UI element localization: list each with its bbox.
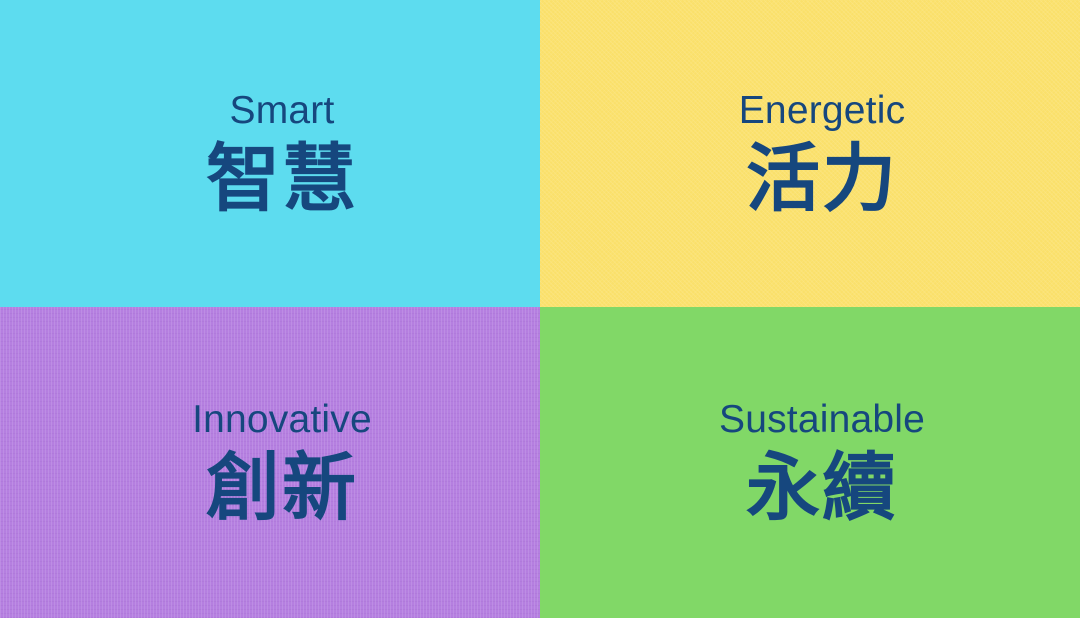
value-label-block-sustainable: Sustainable 永續: [719, 400, 925, 525]
value-label-block-smart: Smart 智慧: [206, 91, 358, 216]
value-label-cjk-innovative: 創新: [206, 451, 358, 525]
value-panel-sustainable: Sustainable 永續: [540, 307, 1080, 618]
value-label-en-sustainable: Sustainable: [719, 400, 925, 439]
value-label-en-innovative: Innovative: [192, 400, 372, 439]
value-label-cjk-energetic: 活力: [746, 142, 898, 216]
value-panel-smart: Smart 智慧: [0, 0, 540, 307]
value-label-en-energetic: Energetic: [739, 91, 906, 130]
value-label-block-energetic: Energetic 活力: [739, 91, 906, 216]
values-grid: Smart 智慧 Energetic 活力 Innovative 創新 Sust…: [0, 0, 1080, 618]
value-panel-innovative: Innovative 創新: [0, 307, 540, 618]
value-label-cjk-sustainable: 永續: [746, 451, 898, 525]
brand-values-graphic: Smart 智慧 Energetic 活力 Innovative 創新 Sust…: [0, 0, 1080, 618]
value-label-cjk-smart: 智慧: [206, 142, 358, 216]
value-label-block-innovative: Innovative 創新: [192, 400, 372, 525]
value-label-en-smart: Smart: [229, 91, 334, 130]
value-panel-energetic: Energetic 活力: [540, 0, 1080, 307]
